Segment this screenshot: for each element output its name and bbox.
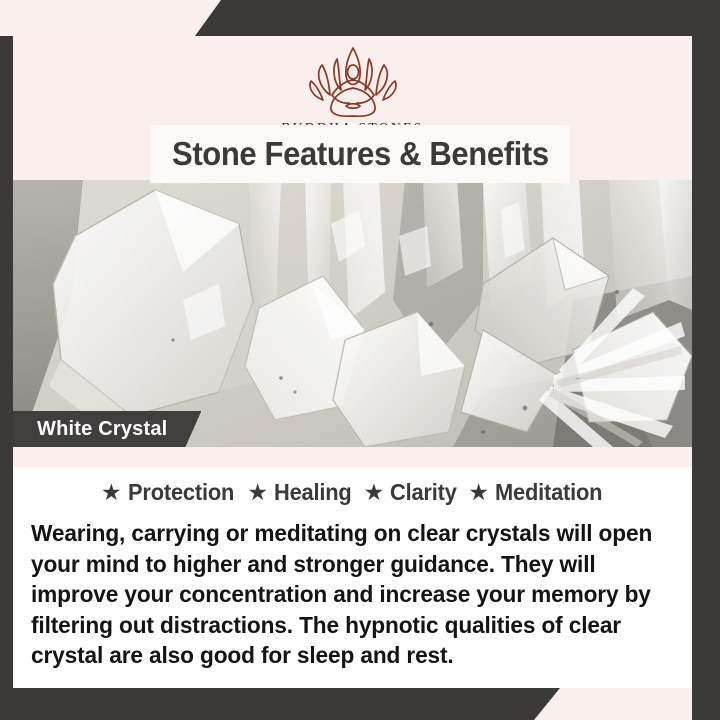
benefit-item-meditation: ★ Meditation [460, 479, 608, 506]
content-panel: ★ Protection ★ Healing ★ Clarity ★ Medit… [13, 467, 692, 688]
photo-label-text: White Crystal [37, 418, 167, 441]
benefits-row: ★ Protection ★ Healing ★ Clarity ★ Medit… [31, 479, 670, 506]
star-icon: ★ [101, 481, 122, 504]
benefit-item-clarity: ★ Clarity [356, 479, 461, 506]
benefit-label: Clarity [390, 479, 457, 506]
benefit-item-healing: ★ Healing [239, 479, 355, 506]
page-title: Stone Features & Benefits [172, 135, 549, 173]
benefit-label: Healing [274, 479, 352, 506]
frame-top-bar [195, 0, 720, 36]
infographic-card: BUDDHA STONES Stone Features & Benefits [0, 0, 720, 720]
star-icon: ★ [364, 481, 385, 504]
frame-bottom-bar [0, 688, 560, 720]
frame-right-edge [692, 0, 720, 720]
white-crystal-cluster-photo [13, 180, 692, 447]
benefit-label: Meditation [495, 479, 602, 506]
star-icon: ★ [247, 481, 268, 504]
benefit-label: Protection [128, 479, 234, 506]
lotus-meditation-figure-icon [301, 44, 405, 116]
star-icon: ★ [468, 481, 489, 504]
title-banner: Stone Features & Benefits [150, 125, 570, 183]
frame-left-edge [0, 36, 13, 696]
benefit-item-protection: ★ Protection [93, 479, 239, 506]
photo-label: White Crystal [13, 411, 201, 447]
description-paragraph: Wearing, carrying or meditating on clear… [31, 518, 666, 671]
pink-divider-strip [13, 447, 692, 467]
